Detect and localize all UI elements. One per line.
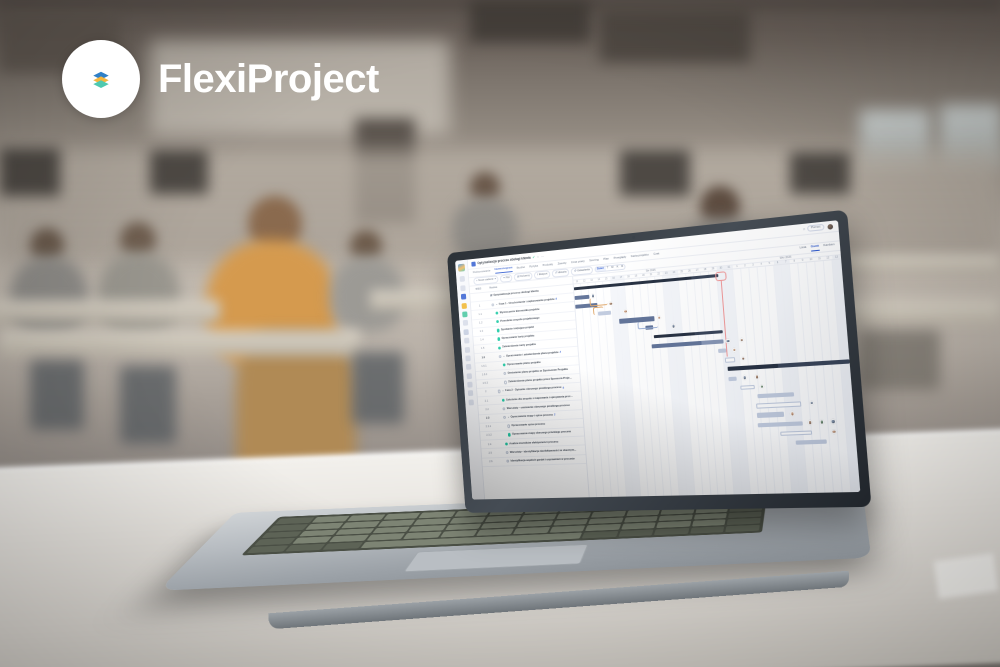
more-icon[interactable]: ⋯ xyxy=(541,254,544,258)
dependency-link xyxy=(590,297,608,306)
trackpad[interactable] xyxy=(403,544,588,572)
status-icon xyxy=(503,372,506,375)
status-icon xyxy=(497,337,500,340)
history-button[interactable]: ↺ Historia xyxy=(552,269,570,278)
assignee-avatar[interactable] xyxy=(819,420,824,425)
columns-button[interactable]: ▤ Kolumny xyxy=(514,272,533,281)
chevron-down-icon[interactable]: ⌄ xyxy=(503,355,505,358)
tab-produkty[interactable]: Produkty xyxy=(542,263,553,269)
row-wbs: 2.4 xyxy=(481,442,498,446)
assignee-avatar[interactable] xyxy=(609,301,613,306)
row-wbs: 2.3 xyxy=(479,416,496,420)
webcam xyxy=(632,236,635,239)
row-wbs: 1 xyxy=(471,303,488,308)
status-icon xyxy=(496,320,499,323)
dependency-link xyxy=(593,306,604,315)
brand-name: FlexiProject xyxy=(158,57,379,102)
gantt-bar-summary[interactable] xyxy=(728,360,850,371)
row-wbs: 1.6.2 xyxy=(476,373,493,377)
status-icon xyxy=(495,311,498,314)
sidebar-icon-settings[interactable] xyxy=(468,391,473,397)
app-main: Optymalizacja procesu obsługi klienta ✔ … xyxy=(468,220,861,499)
row-wbs: 2.3.2 xyxy=(480,434,497,438)
tab-plan[interactable]: Plan xyxy=(603,257,609,262)
columns-label: Kolumny xyxy=(520,274,530,278)
row-name: Powołanie zespołu projektowego xyxy=(500,317,539,324)
notification-icon[interactable]: ⌂ xyxy=(803,227,806,232)
filter-button[interactable]: ⏷ Filtr xyxy=(500,274,513,282)
row-wbs: 1.1 xyxy=(472,312,489,317)
screen: Optymalizacja procesu obsługi klienta ✔ … xyxy=(455,220,860,499)
row-name: Opracowanie mapy obecnego przebiegu proc… xyxy=(512,431,571,437)
tab-czat[interactable]: Czat xyxy=(653,252,659,257)
help-button[interactable]: Pomoc xyxy=(807,223,824,232)
sidebar-icon-portfolio[interactable] xyxy=(460,285,465,291)
status-icon xyxy=(497,329,500,332)
sidebar-icon-analytics[interactable] xyxy=(467,382,472,388)
zoom-day[interactable]: Dzień xyxy=(595,266,605,272)
row-name: Warsztaty - identyfikacja nieefektywnośc… xyxy=(510,448,577,454)
assignee-avatar[interactable] xyxy=(832,429,837,434)
tab-czas-pracy[interactable]: Czas pracy xyxy=(571,260,585,266)
sidebar-icon-dashboard[interactable] xyxy=(460,276,465,282)
sidebar-icon-budget[interactable] xyxy=(465,355,470,361)
filter-label: Filtr xyxy=(506,276,510,280)
history-label: Historia xyxy=(558,271,567,275)
status-icon xyxy=(505,442,508,445)
subtask-count: 6 xyxy=(555,297,556,300)
gantt-bar[interactable] xyxy=(724,357,735,362)
sidebar-icon-support[interactable] xyxy=(468,399,473,405)
app-logo-icon[interactable] xyxy=(458,264,465,272)
dependency-link xyxy=(637,321,658,330)
sidebar-icon-reports[interactable] xyxy=(464,338,469,344)
sidebar-icon-documents[interactable] xyxy=(466,364,471,370)
star-icon[interactable]: ☆ xyxy=(537,255,540,259)
gantt-bar[interactable] xyxy=(740,385,754,390)
filter-icon: ⏷ xyxy=(503,277,505,281)
gantt-bar[interactable] xyxy=(729,376,738,381)
assignee-avatar[interactable] xyxy=(808,420,813,425)
gantt-bar[interactable] xyxy=(756,412,784,418)
check-icon: ✔ xyxy=(532,255,535,259)
row-name: Analiza mierników efektywności procesu xyxy=(509,440,558,445)
assignee-avatar[interactable] xyxy=(831,419,836,424)
assignee-avatar[interactable] xyxy=(657,316,662,321)
sidebar-icon-risks[interactable] xyxy=(465,347,470,353)
view-gantt[interactable]: Gantt xyxy=(811,245,820,252)
flexiproject-app: Optymalizacja procesu obsługi klienta ✔ … xyxy=(455,220,860,499)
status-icon xyxy=(503,363,506,366)
gantt-body: WBS Nazwa ▤Optymalizacja procesu obsługi… xyxy=(470,251,861,499)
row-name: Szkolenie dla zespołu z mapowania i opis… xyxy=(506,395,573,402)
chevron-down-icon[interactable]: ⌄ xyxy=(496,303,498,306)
assignee-avatar[interactable] xyxy=(739,337,744,342)
row-wbs: 2.5 xyxy=(482,451,499,455)
sidebar-icon-team[interactable] xyxy=(467,373,472,379)
logo-mark xyxy=(62,40,140,118)
new-task-label: Nowe zadanie xyxy=(478,278,493,283)
gantt-bar-summary[interactable] xyxy=(653,330,722,338)
chevron-down-icon[interactable]: ⌄ xyxy=(507,416,509,419)
sidebar-icon-resources[interactable] xyxy=(462,311,467,317)
status-icon xyxy=(506,460,509,463)
gantt-bar[interactable] xyxy=(575,294,590,300)
status-icon xyxy=(502,398,505,401)
avatar[interactable] xyxy=(826,222,834,230)
export-button[interactable]: ⭳ Eksport xyxy=(534,271,550,279)
gantt-bar[interactable] xyxy=(652,339,724,348)
row-name: Warsztaty - omówienie obecnego przebiegu… xyxy=(507,404,570,411)
laptop-lid: Optymalizacja procesu obsługi klienta ✔ … xyxy=(447,210,872,513)
row-name: Spotkanie inicjujące projekt xyxy=(501,326,534,332)
sidebar-icon-calendar[interactable] xyxy=(463,320,468,326)
settings-label: Ustawienia xyxy=(577,268,590,273)
assignee-avatar[interactable] xyxy=(755,375,760,380)
row-wbs: 1.4 xyxy=(473,338,490,343)
tab-przeglady[interactable]: Przeglądy xyxy=(613,255,626,261)
row-name: Omówienie planu projektu ze Sponsorem Pr… xyxy=(508,368,569,375)
assignee-avatar[interactable] xyxy=(726,338,731,343)
assignee-avatar[interactable] xyxy=(790,411,795,416)
status-icon xyxy=(508,433,511,436)
tab-zasoby[interactable]: Zasoby xyxy=(557,261,566,266)
gantt-bar[interactable] xyxy=(718,348,726,353)
row-name: Opracowanie i zatwierdzenie planu projek… xyxy=(506,351,558,358)
chevron-down-icon[interactable]: ⌄ xyxy=(502,390,504,393)
row-wbs: 2.1 xyxy=(478,399,495,403)
row-wbs: 1.6 xyxy=(475,355,492,360)
task-grid[interactable]: WBS Nazwa ▤Optymalizacja procesu obsługi… xyxy=(470,277,590,500)
status-icon xyxy=(507,424,510,427)
subtask-count: 3 xyxy=(560,351,561,354)
tab-harmonogram[interactable]: Harmonogram xyxy=(494,266,512,273)
row-name: Opracowanie opisu procesu xyxy=(511,423,545,428)
status-icon xyxy=(502,407,505,410)
status-icon xyxy=(506,451,509,454)
row-name: Zatwierdzenie karty projektu xyxy=(502,343,536,349)
assignee-avatar[interactable] xyxy=(732,347,737,352)
status-icon xyxy=(498,390,501,393)
status-icon xyxy=(504,381,507,384)
assignee-avatar[interactable] xyxy=(741,356,746,361)
gantt-bars[interactable] xyxy=(574,259,861,497)
view-lista[interactable]: Lista xyxy=(800,246,807,253)
tab-podsumowanie[interactable]: Podsumowanie xyxy=(473,269,491,275)
gantt-bar[interactable] xyxy=(757,421,802,427)
row-wbs: 1.5 xyxy=(474,347,491,352)
gantt-bar[interactable] xyxy=(795,439,827,445)
subtask-count: 6 xyxy=(563,386,564,389)
critical-path-line xyxy=(721,280,728,357)
tab-karta-projektu[interactable]: Karta projektu xyxy=(631,253,649,260)
status-icon xyxy=(491,303,494,306)
brand-logo: FlexiProject xyxy=(62,40,379,118)
chevron-down-icon: ▾ xyxy=(494,278,496,282)
row-name: Faza 2 - Opisanie obecnego przebiegu pro… xyxy=(505,386,561,393)
settings-icon: ⚙ xyxy=(574,270,577,274)
sidebar-icon-tasks[interactable] xyxy=(461,303,466,309)
export-label: Eksport xyxy=(539,273,548,277)
row-wbs: 1.2 xyxy=(472,321,489,326)
row-wbs: 1.3 xyxy=(473,329,490,334)
gantt-chart[interactable]: Sie 2025 Wrz 2025 11 12 13 14 15 16 17 xyxy=(573,251,860,497)
tab-scoring[interactable]: Scoring xyxy=(589,258,599,264)
status-icon xyxy=(498,346,501,349)
tab-budzet[interactable]: Budżet xyxy=(517,266,526,271)
sidebar-icon-gantt[interactable] xyxy=(463,329,468,335)
columns-icon: ▤ xyxy=(517,275,520,279)
gantt-bar[interactable] xyxy=(758,392,795,398)
sidebar-icon-projects[interactable] xyxy=(461,294,466,300)
gantt-bar[interactable] xyxy=(756,402,801,409)
assignee-avatar[interactable] xyxy=(742,375,747,380)
stacked-layers-icon xyxy=(79,71,123,88)
row-name: Identyfikacja wąskich gardeł i usprawnie… xyxy=(510,457,574,463)
row-name: Opracowanie planu projektu xyxy=(507,361,541,367)
history-icon: ↺ xyxy=(555,272,558,276)
gantt-bar[interactable] xyxy=(780,430,812,436)
row-wbs: 2 xyxy=(477,390,494,394)
row-name: Wyznaczenie kierownika projektu xyxy=(500,308,540,315)
row-wbs: 1.6.1 xyxy=(475,364,492,368)
column-wbs: WBS xyxy=(470,287,487,292)
status-icon xyxy=(503,416,506,419)
doc-icon: ▤ xyxy=(490,294,493,297)
row-name: Opracowanie karty projektu xyxy=(502,335,535,341)
assignee-avatar[interactable] xyxy=(760,384,765,389)
row-wbs: 2.2 xyxy=(478,408,495,412)
subtask-count: 2 xyxy=(554,414,555,417)
row-name: Zatwierdzenie planu projektu przez Spons… xyxy=(508,377,572,384)
zoom-year[interactable]: R xyxy=(620,264,625,269)
row-wbs: 1.6.3 xyxy=(477,381,494,385)
row-wbs: 2.3.1 xyxy=(480,425,497,429)
row-wbs xyxy=(470,296,487,298)
assignee-avatar[interactable] xyxy=(809,401,814,406)
view-kanban[interactable]: Kanban xyxy=(823,243,835,250)
tab-ryzyka[interactable]: Ryzyka xyxy=(529,264,538,269)
assignee-avatar[interactable] xyxy=(623,309,627,314)
row-wbs: 2.6 xyxy=(482,460,499,464)
row-name: Opracowanie mapy i opisu procesu xyxy=(511,413,554,418)
assignee-avatar[interactable] xyxy=(671,324,676,329)
project-icon xyxy=(471,261,476,266)
status-icon xyxy=(499,355,502,358)
